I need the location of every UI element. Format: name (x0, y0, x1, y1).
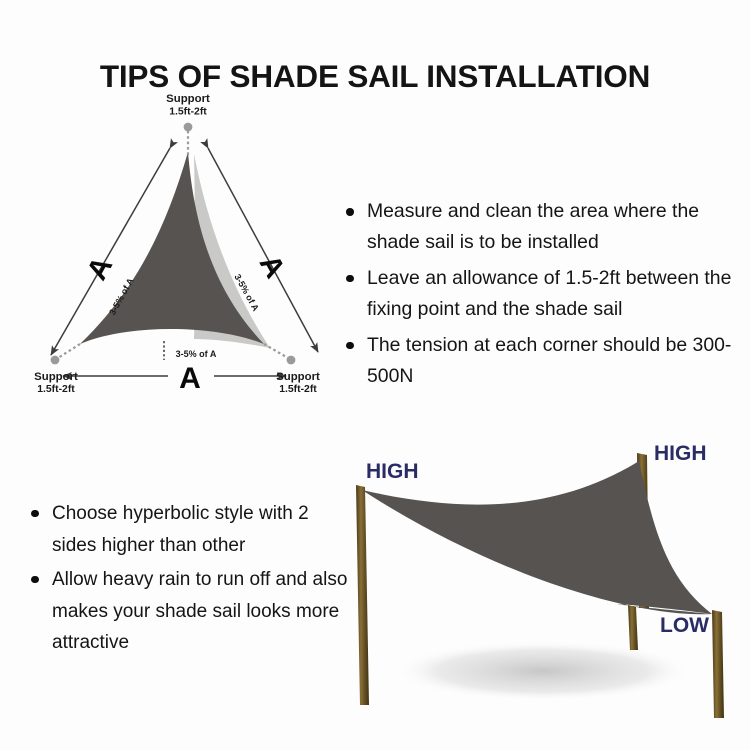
bullet-dot-icon (31, 510, 39, 518)
side-label-left: A (81, 252, 119, 286)
support-title-bottom-right: Support (276, 371, 320, 383)
style-tips-list: Choose hyperbolic style with 2 sides hig… (28, 498, 358, 659)
bullet-dot-icon (346, 275, 354, 283)
sail-surface (362, 461, 712, 614)
post-low-right (712, 610, 724, 718)
label-low-right: LOW (660, 614, 709, 637)
support-spec-bottom-right: 1.5ft-2ft (279, 384, 317, 395)
hyperbolic-sail-svg: HIGH HIGH LOW (338, 428, 750, 723)
list-item: The tension at each corner should be 300… (343, 330, 743, 393)
bullet-dot-icon (346, 208, 354, 216)
support-title-bottom-left: Support (34, 371, 78, 383)
list-item: Leave an allowance of 1.5-2ft between th… (343, 263, 743, 326)
ground-shadow (393, 641, 693, 701)
hyperbolic-sail-panel: HIGH HIGH LOW (338, 428, 750, 723)
triangle-diagram-panel: Support 1.5ft-2ft Support 1.5ft-2ft Supp… (18, 108, 358, 413)
list-item: Allow heavy rain to run off and also mak… (28, 564, 358, 659)
label-high-right: HIGH (654, 442, 707, 465)
post-middle-rear (628, 605, 638, 650)
style-tip-text: Choose hyperbolic style with 2 sides hig… (52, 498, 358, 561)
list-item: Choose hyperbolic style with 2 sides hig… (28, 498, 358, 561)
support-spec-top: 1.5ft-2ft (169, 107, 207, 118)
triangle-sail-shape (80, 152, 264, 344)
support-anchor-top (184, 123, 193, 132)
bullet-dot-icon (31, 576, 39, 584)
tip-text: Leave an allowance of 1.5-2ft between th… (367, 263, 743, 326)
support-anchor-bottom-left (51, 356, 60, 365)
infographic-page: TIPS OF SHADE SAIL INSTALLATION (0, 0, 750, 750)
tip-text: The tension at each corner should be 300… (367, 330, 743, 393)
installation-tips-list: Measure and clean the area where the sha… (343, 196, 743, 393)
style-tip-text: Allow heavy rain to run off and also mak… (52, 564, 358, 659)
style-tips-panel: Choose hyperbolic style with 2 sides hig… (28, 498, 358, 678)
page-title: TIPS OF SHADE SAIL INSTALLATION (0, 58, 750, 95)
support-anchor-bottom-right (287, 356, 296, 365)
tip-text: Measure and clean the area where the sha… (367, 196, 743, 259)
post-high-left (356, 485, 369, 705)
support-spec-bottom-left: 1.5ft-2ft (37, 384, 75, 395)
side-label-right: A (253, 250, 291, 284)
triangle-diagram-svg: Support 1.5ft-2ft Support 1.5ft-2ft Supp… (18, 108, 358, 413)
side-label-bottom: A (179, 362, 201, 395)
tether-line-bottom-left (58, 344, 80, 358)
installation-tips-panel: Measure and clean the area where the sha… (343, 196, 743, 396)
bullet-dot-icon (346, 342, 354, 350)
label-high-left: HIGH (366, 460, 419, 483)
list-item: Measure and clean the area where the sha… (343, 196, 743, 259)
support-title-top: Support (166, 93, 210, 105)
sag-label-bottom: 3-5% of A (176, 349, 217, 359)
